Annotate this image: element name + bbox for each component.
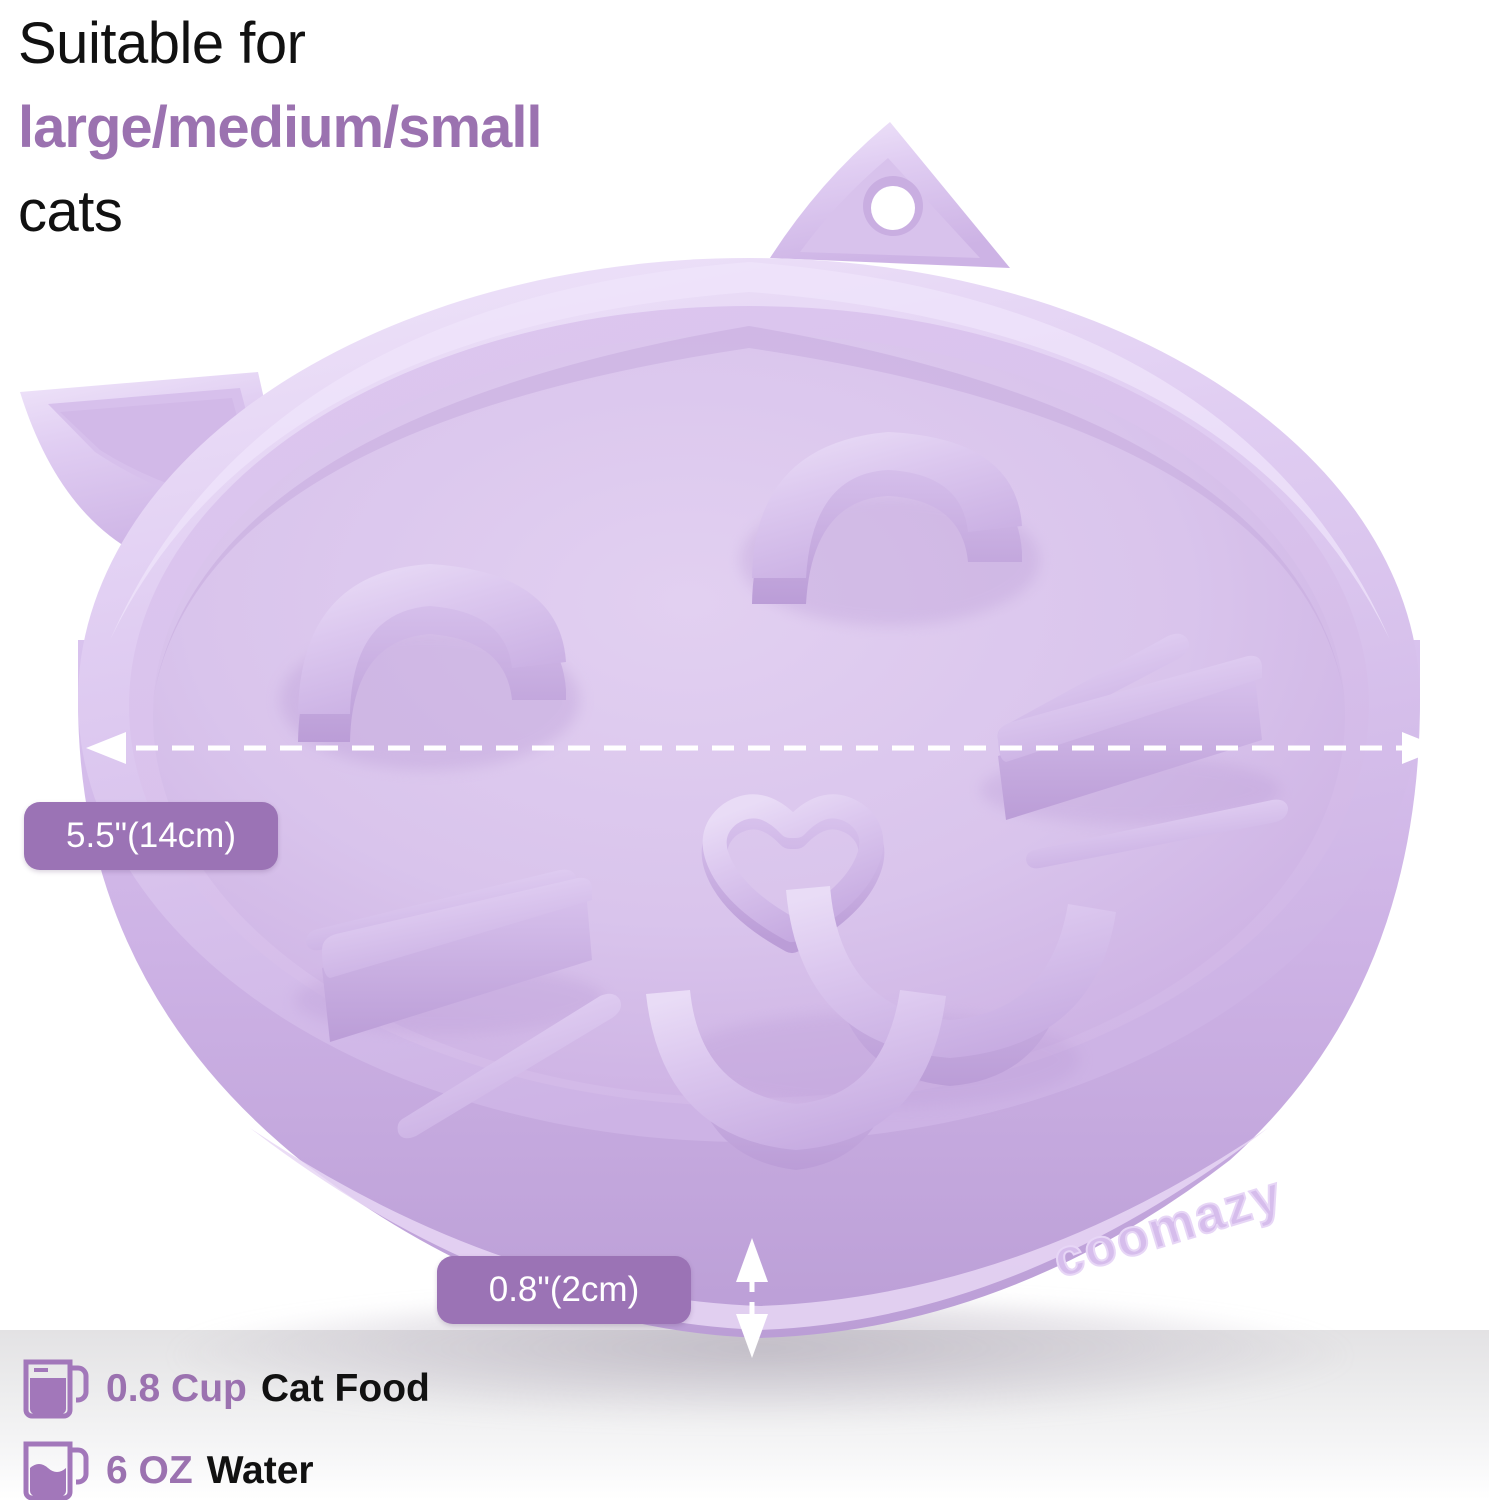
- product-image-canvas: coomazy Suitable for large/medium/small …: [0, 0, 1489, 1500]
- capacity-amount-food: 0.8 Cup: [106, 1367, 247, 1411]
- page-title: Suitable for large/medium/small cats: [18, 2, 878, 254]
- width-dimension-badge: 5.5"(14cm): [24, 802, 278, 870]
- measuring-cup-icon: [20, 1358, 92, 1420]
- capacity-row-food: 0.8 Cup Cat Food: [20, 1358, 430, 1420]
- headline-line-1: Suitable for: [18, 2, 878, 86]
- headline-line-3: cats: [18, 170, 878, 254]
- capacity-amount-water: 6 OZ: [106, 1449, 193, 1493]
- capacity-row-water: 6 OZ Water: [20, 1440, 314, 1500]
- height-dimension-badge: 0.8"(2cm): [437, 1256, 691, 1324]
- headline-line-2-highlight: large/medium/small: [18, 86, 878, 170]
- capacity-label-food: Cat Food: [261, 1367, 430, 1411]
- measuring-cup-icon: [20, 1440, 92, 1500]
- capacity-label-water: Water: [207, 1449, 314, 1493]
